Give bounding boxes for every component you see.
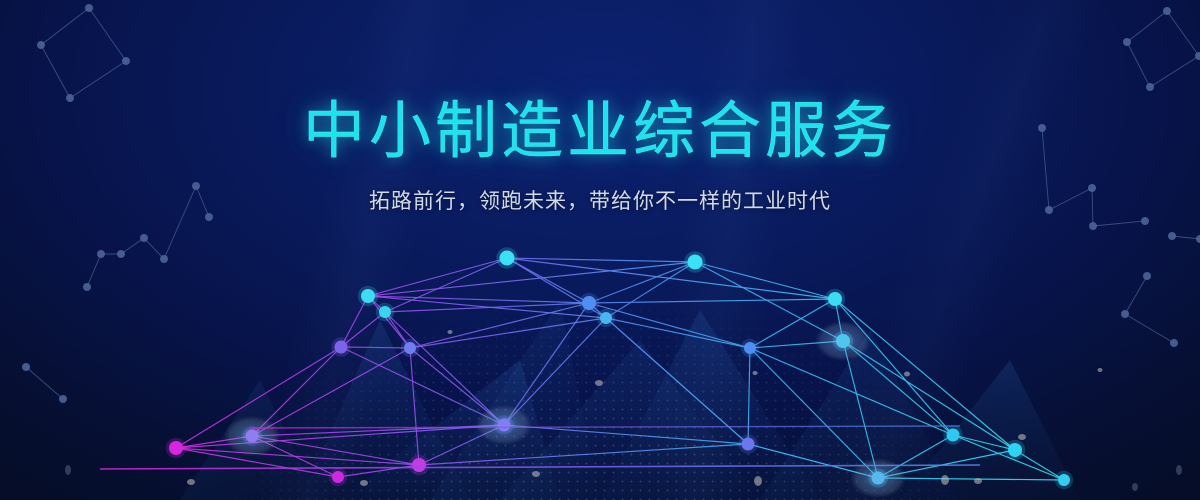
speck-layer [0,0,1200,500]
hero-text-block: 中小制造业综合服务 拓路前行，领跑未来，带给你不一样的工业时代 [0,96,1200,215]
page-title: 中小制造业综合服务 [0,96,1200,167]
page-subtitle: 拓路前行，领跑未来，带给你不一样的工业时代 [0,185,1200,215]
hero-banner: 中小制造业综合服务 拓路前行，领跑未来，带给你不一样的工业时代 [0,0,1200,500]
